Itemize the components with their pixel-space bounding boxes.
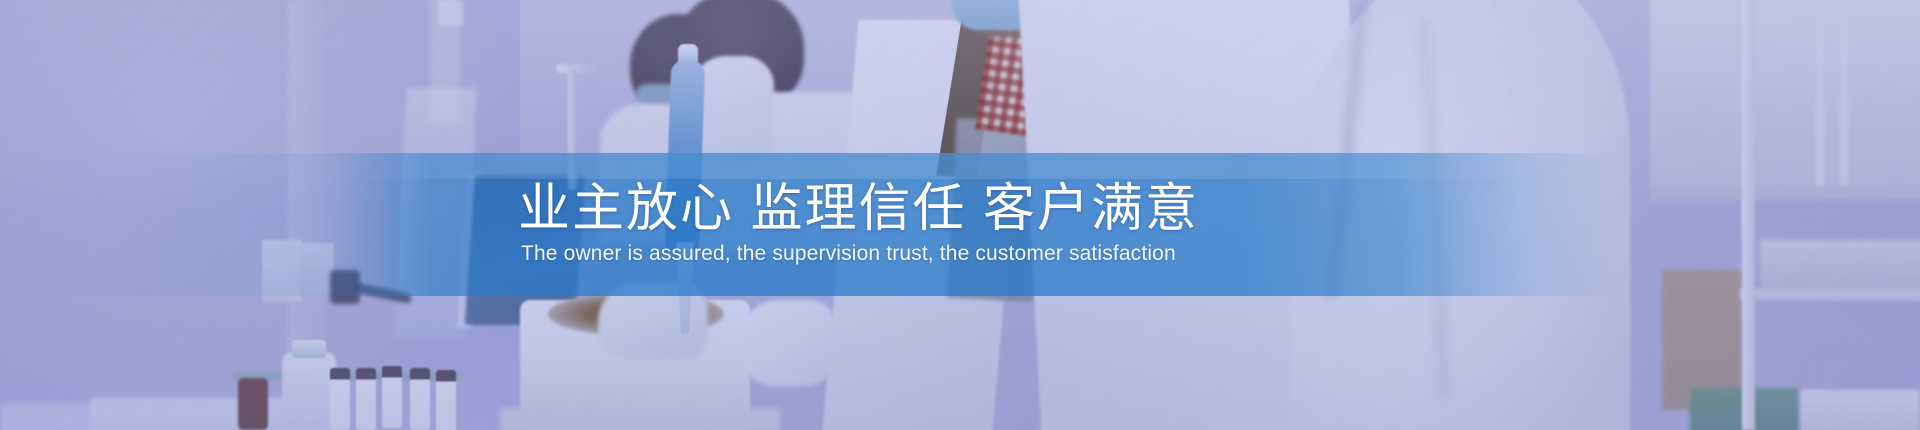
slogan-text-group: 业主放心 监理信任 客户满意 The owner is assured, the… — [0, 153, 1920, 296]
hero-banner: 业主放心 监理信任 客户满意 The owner is assured, the… — [0, 0, 1920, 430]
slogan-headline: 业主放心 监理信任 客户满意 — [518, 183, 1199, 236]
slogan-subline: The owner is assured, the supervision tr… — [518, 242, 1176, 266]
